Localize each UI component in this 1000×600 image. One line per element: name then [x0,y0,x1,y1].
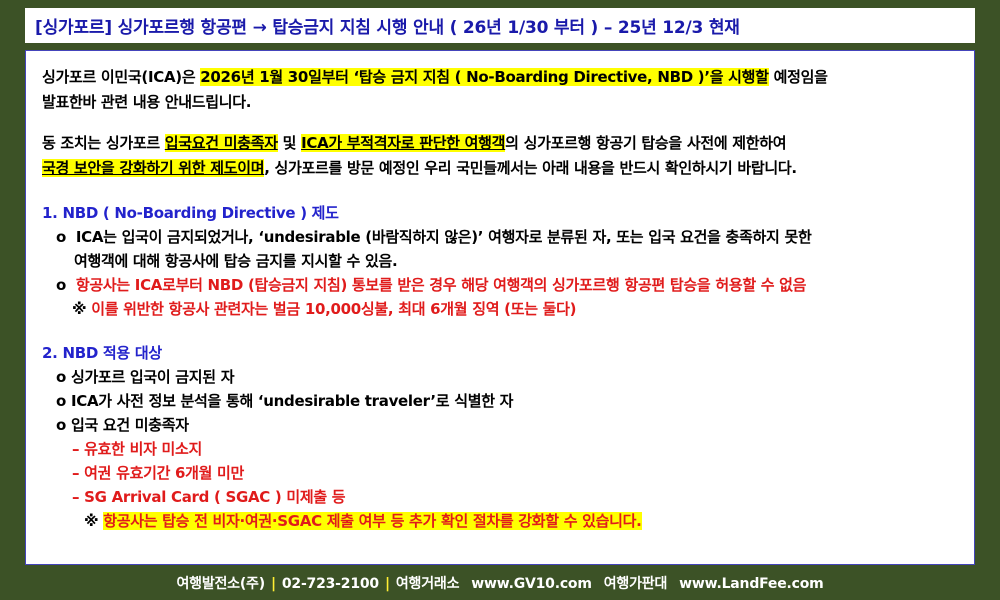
footer-content: 여행발전소(주)|02-723-2100|여행거래소www.GV10.com여행… [176,573,823,593]
spacer-after-intro [42,115,958,131]
measure-highlight-3: 국경 보안을 강화하기 위한 제도이며 [42,159,264,177]
footer-separator-1: | [265,576,282,592]
measure-line-1-pre: 동 조치는 싱가포르 [42,134,165,152]
footer-partner-1-url[interactable]: www.GV10.com [471,576,591,592]
footer-partner-1-name: 여행거래소 [396,576,459,592]
measure-highlight-2: ICA가 부적격자로 판단한 여행객 [301,134,505,152]
section-2-note-text: 항공사는 탑승 전 비자·여권·SGAC 제출 여부 등 추가 확인 절차를 강… [103,512,641,530]
dash-marker: – [72,440,79,458]
measure-line-2: 국경 보안을 강화하기 위한 제도이며, 싱가포르를 방문 예정인 우리 국민들… [42,156,958,181]
section-1-note: ※ 이를 위반한 항공사 관련자는 벌금 10,000싱불, 최대 6개월 징역… [42,297,958,321]
intro-line-1: 싱가포르 이민국(ICA)은 2026년 1월 30일부터 ‘탑승 금지 지침 … [42,65,958,90]
section-2-heading: 2. NBD 적용 대상 [42,341,958,365]
note-marker: ※ [84,512,98,530]
section-1-item-2-line-1: o 항공사는 ICA로부터 NBD (탑승금지 지침) 통보를 받은 경우 해당… [42,273,958,297]
section-2-item-3: o 입국 요건 미충족자 [42,413,958,437]
bullet-marker: o [56,228,66,246]
section-2-subitem-3-text: SG Arrival Card ( SGAC ) 미제출 등 [84,488,345,506]
dash-marker: – [72,488,79,506]
section-2-subitem-1: – 유효한 비자 미소지 [42,437,958,461]
spacer-before-section-2 [42,321,958,341]
footer-separator-2: | [379,576,396,592]
section-2-subitem-3: – SG Arrival Card ( SGAC ) 미제출 등 [42,485,958,509]
section-2-subitem-2: – 여권 유효기간 6개월 미만 [42,461,958,485]
notice-page: [싱가포르] 싱가포르행 항공편 → 탑승금지 지침 시행 안내 ( 26년 1… [0,0,1000,600]
intro-line-1-post: 예정임을 [769,68,828,86]
section-2-item-2: o ICA가 사전 정보 분석을 통해 ‘undesirable travele… [42,389,958,413]
intro-line-1-pre: 싱가포르 이민국(ICA)은 [42,68,200,86]
measure-line-1-post: 의 싱가포르행 항공기 탑승을 사전에 제한하여 [505,134,786,152]
bullet-marker: o [56,276,66,294]
footer-bar: 여행발전소(주)|02-723-2100|여행거래소www.GV10.com여행… [0,566,1000,600]
section-1-item-1-line-1: o ICA는 입국이 금지되었거나, ‘undesirable (바람직하지 않… [42,225,958,249]
intro-line-1-highlight: 2026년 1월 30일부터 ‘탑승 금지 지침 ( No-Boarding D… [200,68,768,86]
footer-partner-2-url[interactable]: www.LandFee.com [679,576,823,592]
section-1-item-1-line-2: 여행객에 대해 항공사에 탑승 금지를 지시할 수 있음. [42,249,958,273]
footer-phone[interactable]: 02-723-2100 [282,576,379,592]
bullet-marker: o [56,368,66,386]
section-1-item-2-text: 항공사는 ICA로부터 NBD (탑승금지 지침) 통보를 받은 경우 해당 여… [76,276,806,294]
section-1-note-text: 이를 위반한 항공사 관련자는 벌금 10,000싱불, 최대 6개월 징역 (… [91,300,576,318]
section-2-item-3-text: 입국 요건 미충족자 [71,416,189,434]
footer-company: 여행발전소(주) [176,576,264,592]
section-2-item-1-text: 싱가포르 입국이 금지된 자 [71,368,234,386]
bullet-marker: o [56,392,66,410]
measure-line-1: 동 조치는 싱가포르 입국요건 미충족자 및 ICA가 부적격자로 판단한 여행… [42,131,958,156]
content-panel: 싱가포르 이민국(ICA)은 2026년 1월 30일부터 ‘탑승 금지 지침 … [25,50,975,565]
footer-partner-2-name: 여행가판대 [604,576,667,592]
section-2-subitem-1-text: 유효한 비자 미소지 [84,440,202,458]
section-2-subitem-2-text: 여권 유효기간 6개월 미만 [84,464,244,482]
measure-line-1-mid: 및 [278,134,301,152]
section-2-note: ※ 항공사는 탑승 전 비자·여권·SGAC 제출 여부 등 추가 확인 절차를… [42,509,958,533]
section-1-heading: 1. NBD ( No-Boarding Directive ) 제도 [42,201,958,225]
measure-highlight-1: 입국요건 미충족자 [165,134,278,152]
section-2-item-1: o 싱가포르 입국이 금지된 자 [42,365,958,389]
section-2-item-2-text: ICA가 사전 정보 분석을 통해 ‘undesirable traveler’… [71,392,513,410]
section-1-item-1-text: ICA는 입국이 금지되었거나, ‘undesirable (바람직하지 않은)… [76,228,812,246]
bullet-marker: o [56,416,66,434]
dash-marker: – [72,464,79,482]
measure-line-2-post: , 싱가포르를 방문 예정인 우리 국민들께서는 아래 내용을 반드시 확인하시… [264,159,797,177]
intro-line-2: 발표한바 관련 내용 안내드립니다. [42,90,958,115]
note-marker: ※ [72,300,86,318]
page-title: [싱가포르] 싱가포르행 항공편 → 탑승금지 지침 시행 안내 ( 26년 1… [25,13,740,38]
spacer-before-section-1 [42,181,958,201]
title-bar: [싱가포르] 싱가포르행 항공편 → 탑승금지 지침 시행 안내 ( 26년 1… [25,8,975,43]
